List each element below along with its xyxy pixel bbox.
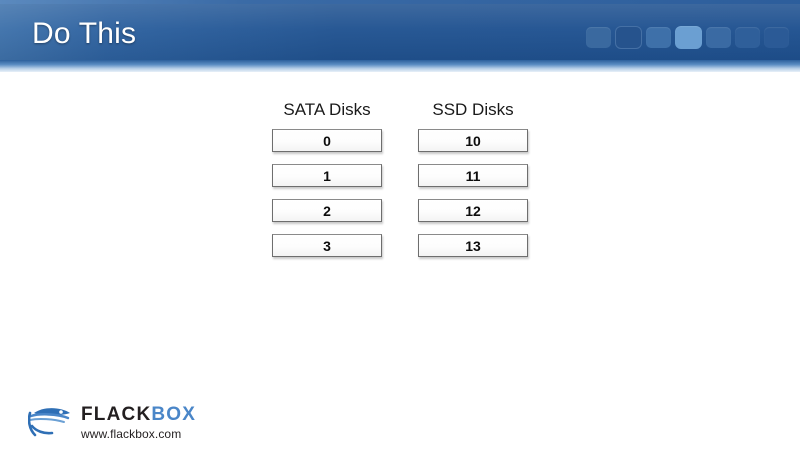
flackbox-logo: FLACKBOX www.flackbox.com <box>28 404 196 440</box>
header-square-6 <box>735 27 760 48</box>
logo-wordmark: FLACKBOX <box>81 405 196 424</box>
header-bottom-strip <box>0 60 800 72</box>
disk-box[interactable]: 12 <box>418 199 528 222</box>
logo-url: www.flackbox.com <box>81 428 196 440</box>
logo-word-box: BOX <box>151 404 196 425</box>
header-square-3 <box>646 27 671 48</box>
disk-column-sata: SATA Disks 0 1 2 3 <box>272 100 382 257</box>
column-header-ssd: SSD Disks <box>418 100 528 120</box>
header-square-1 <box>586 27 611 48</box>
slide-header: Do This <box>0 0 800 72</box>
header-square-5 <box>706 27 731 48</box>
header-square-7 <box>764 27 789 48</box>
slide: Do This SATA Disks 0 1 2 3 SSD Disks 10 … <box>0 0 800 450</box>
column-header-sata: SATA Disks <box>272 100 382 120</box>
disk-box[interactable]: 13 <box>418 234 528 257</box>
disk-box[interactable]: 3 <box>272 234 382 257</box>
logo-word-flack: FLACK <box>81 404 151 425</box>
page-title: Do This <box>32 17 136 51</box>
header-decoration-squares <box>586 26 789 49</box>
disk-box[interactable]: 0 <box>272 129 382 152</box>
disk-box[interactable]: 11 <box>418 164 528 187</box>
header-top-rule <box>0 0 800 4</box>
disk-column-ssd: SSD Disks 10 11 12 13 <box>418 100 528 257</box>
disk-box[interactable]: 10 <box>418 129 528 152</box>
disk-box[interactable]: 2 <box>272 199 382 222</box>
header-square-2 <box>615 26 642 49</box>
logo-text-block: FLACKBOX www.flackbox.com <box>81 405 196 440</box>
disk-layout-diagram: SATA Disks 0 1 2 3 SSD Disks 10 11 12 13 <box>272 100 528 257</box>
flackbox-fish-icon <box>28 404 74 440</box>
header-square-4 <box>675 26 702 49</box>
disk-box[interactable]: 1 <box>272 164 382 187</box>
